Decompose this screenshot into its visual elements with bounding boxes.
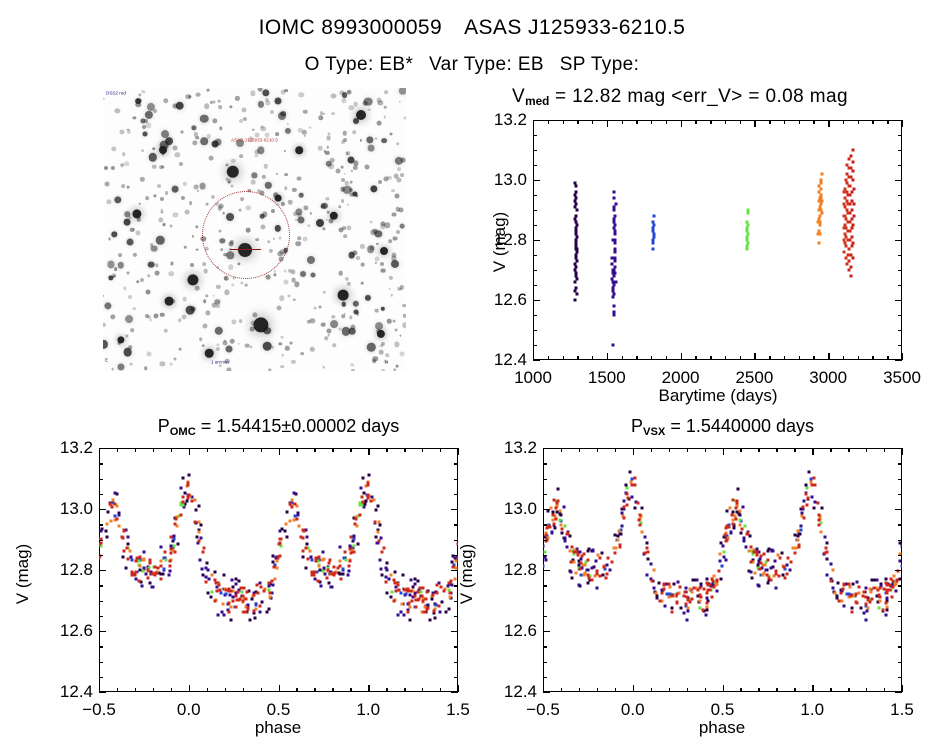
tick-major: [533, 360, 540, 361]
field-star: [347, 204, 349, 206]
data-point: [201, 573, 204, 576]
data-point: [793, 552, 796, 555]
field-star: [202, 262, 206, 266]
field-star: [394, 174, 399, 179]
data-point: [361, 477, 364, 480]
data-point: [696, 579, 699, 582]
tick-minor: [898, 225, 902, 226]
data-point: [838, 600, 841, 603]
data-point: [848, 260, 851, 263]
field-star: [130, 363, 133, 366]
data-point: [614, 533, 617, 536]
p-omc-subscript: OMC: [170, 426, 196, 438]
data-point: [719, 559, 722, 562]
field-star: [124, 161, 129, 166]
data-point: [109, 520, 112, 523]
x-tick-label: 1.0: [356, 700, 380, 720]
field-star: [297, 176, 302, 181]
data-point: [716, 579, 719, 582]
field-star: [330, 320, 338, 328]
tick-minor: [153, 448, 154, 452]
data-point: [143, 557, 146, 560]
data-point: [238, 597, 241, 600]
data-point: [131, 573, 134, 576]
field-star: [146, 289, 151, 294]
data-point: [672, 582, 675, 585]
tick-minor: [622, 120, 623, 124]
field-star: [310, 212, 312, 214]
field-star: [342, 131, 346, 135]
field-star: [396, 142, 400, 146]
data-point: [818, 513, 821, 516]
data-point: [638, 523, 641, 526]
tick-minor: [898, 494, 902, 495]
data-point: [384, 581, 387, 584]
field-star: [185, 94, 191, 100]
data-point: [826, 557, 829, 560]
data-point: [251, 598, 254, 601]
tick-minor: [740, 688, 741, 692]
data-point: [379, 524, 382, 527]
tick-minor: [404, 688, 405, 692]
data-point: [900, 564, 902, 567]
data-point: [290, 506, 293, 509]
field-star: [157, 184, 161, 188]
field-star: [172, 186, 179, 193]
tick-minor: [898, 601, 902, 602]
field-star: [353, 131, 357, 135]
field-star: [160, 197, 164, 201]
x-tick-label: 1.5: [446, 700, 470, 720]
tick-minor: [651, 448, 652, 452]
data-point: [755, 550, 758, 553]
field-star: [104, 303, 111, 310]
data-point: [565, 545, 568, 548]
field-star: [245, 284, 248, 287]
field-star: [231, 283, 234, 286]
data-point: [435, 583, 438, 586]
tick-minor: [898, 285, 902, 286]
data-point: [890, 596, 893, 599]
data-point: [843, 203, 846, 206]
data-point: [570, 571, 573, 574]
data-point: [342, 568, 345, 571]
field-star: [173, 357, 176, 360]
data-point: [855, 601, 858, 604]
data-point: [575, 278, 578, 281]
data-point: [820, 200, 823, 203]
tick-minor: [898, 662, 902, 663]
data-point: [321, 569, 324, 572]
tick-major: [681, 353, 682, 360]
data-point: [306, 536, 309, 539]
data-point: [197, 505, 200, 508]
field-star: [372, 356, 377, 361]
field-star: [103, 98, 105, 100]
data-point: [300, 535, 303, 538]
data-point: [620, 524, 623, 527]
x-tick-label: 0.5: [267, 700, 291, 720]
field-star: [208, 156, 213, 161]
data-point: [802, 517, 805, 520]
data-point: [698, 594, 701, 597]
field-star: [387, 176, 391, 180]
tick-minor: [597, 448, 598, 452]
field-star: [216, 285, 220, 289]
data-point: [614, 266, 617, 269]
data-point: [424, 597, 427, 600]
data-point: [884, 614, 887, 617]
data-point: [719, 577, 722, 580]
data-point: [778, 557, 781, 560]
field-star: [383, 116, 386, 119]
tick-major: [902, 120, 903, 127]
tick-minor: [99, 585, 103, 586]
data-point: [752, 551, 755, 554]
field-star: [347, 151, 351, 155]
field-star: [184, 246, 186, 248]
tick-minor: [561, 448, 562, 452]
y-tick-label: 13.0: [481, 499, 537, 519]
field-star: [346, 225, 351, 230]
field-star: [349, 105, 355, 111]
data-point: [574, 571, 577, 574]
tick-minor: [898, 330, 902, 331]
data-point: [621, 511, 624, 514]
field-star: [343, 173, 345, 175]
data-point: [153, 574, 156, 577]
field-star: [179, 348, 182, 351]
field-star: [354, 310, 359, 315]
tick-minor: [533, 270, 537, 271]
y-tick-label: 13.2: [481, 438, 537, 458]
field-star: [127, 238, 134, 245]
field-star: [298, 236, 302, 240]
data-point: [293, 503, 296, 506]
field-star: [239, 119, 243, 123]
vmed-subscript: med: [525, 95, 549, 108]
data-point: [690, 590, 693, 593]
data-point: [543, 564, 544, 567]
data-point: [851, 191, 854, 194]
data-point: [349, 536, 352, 539]
data-point: [285, 522, 288, 525]
field-star: [199, 338, 203, 342]
data-point: [898, 559, 901, 562]
data-point: [638, 518, 641, 521]
data-point: [595, 586, 598, 589]
data-point: [774, 560, 777, 563]
data-point: [717, 570, 720, 573]
data-point: [289, 520, 292, 523]
tick-major: [607, 353, 608, 360]
data-point: [579, 567, 582, 570]
field-star: [326, 198, 329, 201]
field-star: [155, 271, 160, 276]
tick-major: [902, 448, 903, 455]
data-point: [361, 496, 364, 499]
data-point: [414, 583, 417, 586]
tick-minor: [117, 688, 118, 692]
data-point: [235, 605, 238, 608]
tick-minor: [597, 688, 598, 692]
data-point: [848, 221, 851, 224]
data-point: [826, 550, 829, 553]
data-point: [432, 594, 435, 597]
data-point: [604, 576, 607, 579]
tick-minor: [740, 448, 741, 452]
tick-minor: [563, 120, 564, 124]
data-point: [613, 230, 616, 233]
field-star: [326, 135, 331, 140]
field-star: [135, 98, 141, 104]
tick-major: [99, 448, 106, 449]
tick-minor: [561, 688, 562, 692]
tick-major: [812, 685, 813, 692]
field-star: [215, 327, 223, 335]
field-star: [203, 269, 208, 274]
field-star: [307, 255, 315, 263]
data-point: [745, 545, 748, 548]
tick-minor: [579, 448, 580, 452]
data-point: [134, 570, 137, 573]
y-tick-label: 12.4: [37, 682, 93, 702]
data-point: [190, 500, 193, 503]
data-point: [256, 591, 259, 594]
y-tick-label: 12.8: [37, 560, 93, 580]
data-point: [188, 473, 191, 476]
data-point: [650, 579, 653, 582]
data-point: [322, 551, 325, 554]
data-point: [844, 257, 847, 260]
tick-minor: [615, 688, 616, 692]
data-point: [367, 473, 370, 476]
field-star: [316, 219, 324, 227]
field-star-bright: [295, 146, 303, 154]
tick-minor: [171, 448, 172, 452]
data-point: [840, 599, 843, 602]
tick-major: [189, 685, 190, 692]
data-point: [129, 550, 132, 553]
tick-minor: [243, 688, 244, 692]
data-point: [279, 538, 282, 541]
data-point: [256, 583, 259, 586]
tick-minor: [543, 585, 547, 586]
tick-minor: [261, 688, 262, 692]
tick-minor: [543, 540, 547, 541]
field-star: [127, 272, 130, 275]
data-point: [254, 616, 257, 619]
data-point: [187, 497, 190, 500]
data-point: [852, 224, 855, 227]
data-point: [106, 511, 109, 514]
data-point: [864, 602, 867, 605]
data-point: [613, 197, 616, 200]
data-point: [842, 587, 845, 590]
data-point: [843, 605, 846, 608]
data-point: [685, 586, 688, 589]
tick-minor: [99, 646, 103, 647]
data-point: [433, 616, 436, 619]
data-point: [373, 499, 376, 502]
p-omc-symbol: P: [158, 416, 170, 436]
data-point: [326, 569, 329, 572]
data-point: [563, 539, 566, 542]
field-star: [140, 177, 144, 181]
data-point: [626, 504, 629, 507]
data-point: [131, 559, 134, 562]
data-point: [820, 182, 823, 185]
data-point: [199, 524, 202, 527]
tick-minor: [666, 356, 667, 360]
field-star: [392, 212, 397, 217]
field-star: [264, 132, 269, 137]
field-star: [318, 115, 323, 120]
data-point: [612, 296, 615, 299]
data-point: [418, 597, 421, 600]
data-point: [553, 527, 556, 530]
tick-minor: [848, 688, 849, 692]
tick-minor: [543, 601, 547, 602]
field-star: [182, 297, 187, 302]
data-point: [168, 564, 171, 567]
field-star: [146, 351, 151, 356]
field-star: [111, 166, 115, 170]
data-point: [333, 566, 336, 569]
tick-minor: [898, 165, 902, 166]
field-star: [378, 180, 382, 184]
data-point: [213, 600, 216, 603]
data-point: [411, 599, 414, 602]
tick-minor: [543, 479, 547, 480]
data-point: [820, 173, 823, 176]
data-point: [167, 573, 170, 576]
tick-minor: [725, 356, 726, 360]
tick-minor: [848, 448, 849, 452]
tick-minor: [776, 448, 777, 452]
tick-minor: [669, 688, 670, 692]
field-star: [338, 205, 342, 209]
data-point: [407, 602, 410, 605]
data-point: [747, 209, 750, 212]
data-point: [339, 573, 342, 576]
field-star: [146, 196, 150, 200]
field-star: [230, 339, 235, 344]
field-star: [292, 188, 296, 192]
data-point: [697, 589, 700, 592]
field-star: [399, 100, 401, 102]
data-point: [825, 573, 828, 576]
data-point: [614, 257, 617, 260]
data-point: [126, 543, 129, 546]
data-point: [182, 477, 185, 480]
data-point: [651, 248, 654, 251]
field-star: [351, 369, 355, 371]
field-star: [215, 299, 220, 304]
field-star: [170, 225, 173, 228]
data-point: [272, 565, 275, 568]
data-point: [221, 602, 224, 605]
data-point: [561, 527, 564, 530]
field-star: [161, 210, 164, 213]
data-point: [719, 552, 722, 555]
data-point: [852, 242, 855, 245]
tick-minor: [135, 448, 136, 452]
data-point: [756, 554, 759, 557]
tick-minor: [543, 662, 547, 663]
field-star: [303, 237, 308, 242]
field-star: [192, 235, 194, 237]
data-point: [343, 551, 346, 554]
data-point: [573, 551, 576, 554]
tick-minor: [794, 448, 795, 452]
tick-major: [99, 692, 106, 693]
data-point: [228, 602, 231, 605]
field-star: [202, 323, 207, 328]
data-point: [409, 606, 412, 609]
data-point: [575, 293, 578, 296]
data-point: [646, 573, 649, 576]
tick-minor: [543, 646, 547, 647]
field-star: [136, 280, 140, 284]
tick-minor: [898, 555, 902, 556]
field-star: [146, 123, 151, 128]
data-point: [181, 496, 184, 499]
finder-object-label: ASAS J125933-6210.5: [231, 138, 278, 144]
field-star: [194, 184, 199, 189]
data-point: [802, 500, 805, 503]
data-point: [575, 185, 578, 188]
data-point: [200, 568, 203, 571]
data-point: [116, 518, 119, 521]
tick-minor: [533, 150, 537, 151]
data-point: [197, 531, 200, 534]
data-point: [895, 579, 898, 582]
field-star: [341, 166, 344, 169]
data-point: [438, 605, 441, 608]
tick-minor: [898, 195, 902, 196]
data-point: [670, 594, 673, 597]
field-star: [331, 112, 335, 116]
data-point: [326, 577, 329, 580]
field-star: [314, 307, 317, 310]
field-star: [350, 363, 353, 366]
field-star: [242, 107, 247, 112]
tick-minor: [548, 356, 549, 360]
finder-east-label: E: [105, 358, 108, 364]
field-star: [161, 165, 164, 168]
data-point: [805, 487, 808, 490]
data-point: [384, 576, 387, 579]
tick-minor: [776, 688, 777, 692]
data-point: [421, 595, 424, 598]
data-point: [633, 477, 636, 480]
data-point: [613, 209, 616, 212]
data-point: [794, 547, 797, 550]
data-point: [734, 517, 737, 520]
data-point: [852, 257, 855, 260]
data-point: [551, 513, 554, 516]
field-star: [140, 278, 144, 282]
data-point: [275, 566, 278, 569]
field-star: [125, 335, 128, 338]
data-point: [850, 245, 853, 248]
field-star: [110, 314, 115, 319]
tick-minor: [705, 448, 706, 452]
field-star: [219, 127, 222, 130]
field-star: [396, 287, 400, 291]
data-point: [381, 573, 384, 576]
